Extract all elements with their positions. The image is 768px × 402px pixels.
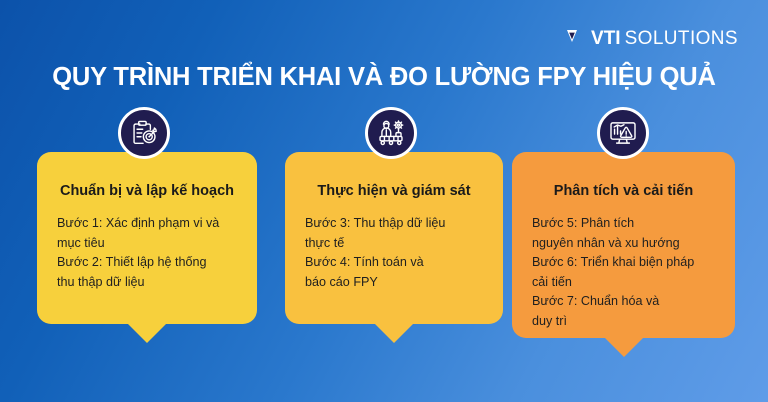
card-tail — [603, 336, 645, 357]
card-title: Thực hiện và giám sát — [305, 182, 483, 200]
step-line: Bước 5: Phân tích — [532, 214, 715, 234]
process-steps-group: Chuẩn bị và lập kế hoạch Bước 1: Xác địn… — [0, 0, 768, 402]
card-body: Phân tích và cải tiến Bước 5: Phân tích … — [512, 152, 735, 338]
card-steps: Bước 3: Thu thập dữ liệu thực tế Bước 4:… — [305, 214, 483, 292]
clipboard-target-icon — [118, 107, 170, 159]
card-title: Phân tích và cải tiến — [532, 182, 715, 200]
step-line: mục tiêu — [57, 234, 237, 254]
card-steps: Bước 1: Xác định phạm vi và mục tiêu Bướ… — [57, 214, 237, 292]
step-line: thu thập dữ liệu — [57, 273, 237, 293]
step-line: báo cáo FPY — [305, 273, 483, 293]
process-card-1: Chuẩn bị và lập kế hoạch Bước 1: Xác địn… — [37, 152, 257, 324]
worker-conveyor-gear-icon — [365, 107, 417, 159]
step-line: Bước 2: Thiết lập hệ thống — [57, 253, 237, 273]
card-steps: Bước 5: Phân tích nguyên nhân và xu hướn… — [532, 214, 715, 331]
step-line: Bước 1: Xác định phạm vi và — [57, 214, 237, 234]
step-line: thực tế — [305, 234, 483, 254]
process-card-3: Phân tích và cải tiến Bước 5: Phân tích … — [512, 152, 735, 338]
card-body: Thực hiện và giám sát Bước 3: Thu thập d… — [285, 152, 503, 324]
step-line: Bước 3: Thu thập dữ liệu — [305, 214, 483, 234]
step-line: cải tiến — [532, 273, 715, 293]
card-body: Chuẩn bị và lập kế hoạch Bước 1: Xác địn… — [37, 152, 257, 324]
process-card-2: Thực hiện và giám sát Bước 3: Thu thập d… — [285, 152, 503, 324]
card-tail — [373, 322, 415, 343]
card-title: Chuẩn bị và lập kế hoạch — [57, 182, 237, 200]
step-line: Bước 7: Chuẩn hóa và — [532, 292, 715, 312]
step-line: Bước 6: Triển khai biện pháp — [532, 253, 715, 273]
card-tail — [126, 322, 168, 343]
step-line: Bước 4: Tính toán và — [305, 253, 483, 273]
step-line: duy trì — [532, 312, 715, 332]
monitor-chart-warning-icon — [597, 107, 649, 159]
step-line: nguyên nhân và xu hướng — [532, 234, 715, 254]
